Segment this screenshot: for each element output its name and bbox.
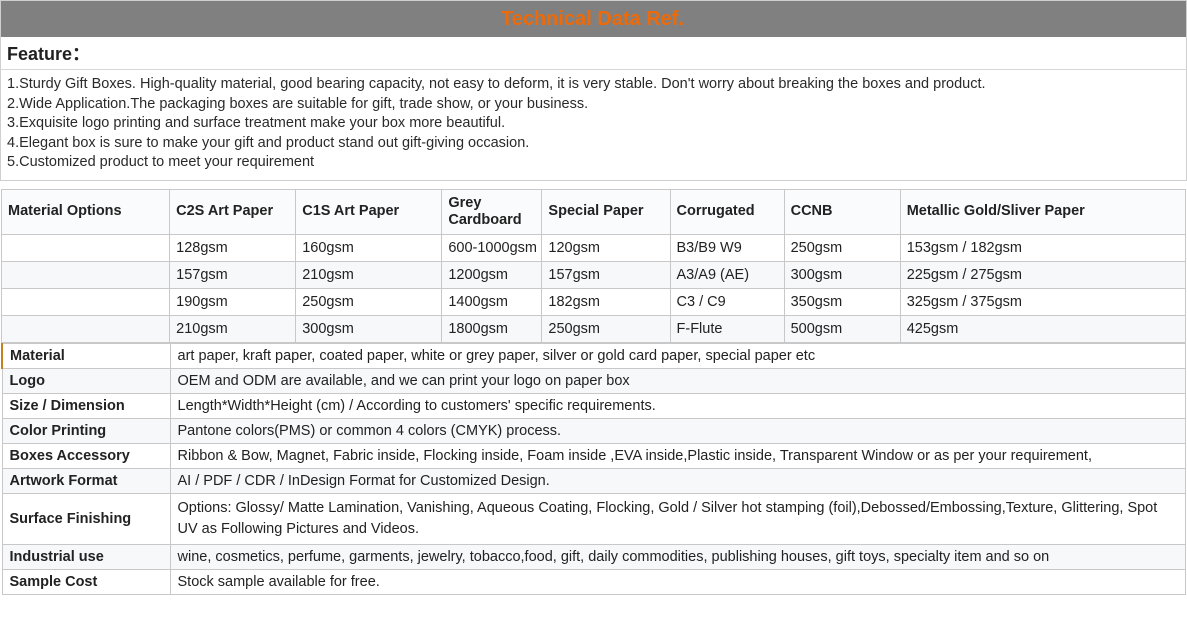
column-header-metallic-gold-sliver-paper: Metallic Gold/Sliver Paper [900, 189, 1185, 234]
specifications-table: Material art paper, kraft paper, coated … [1, 343, 1186, 595]
spec-label-boxes-accessory: Boxes Accessory [2, 443, 170, 468]
spec-label-material: Material [2, 343, 170, 368]
spec-row-boxes-accessory: Boxes Accessory Ribbon & Bow, Magnet, Fa… [2, 443, 1186, 468]
cell-corrugated: C3 / C9 [670, 288, 784, 315]
section-spacer [0, 181, 1187, 189]
cell-corrugated: A3/A9 (AE) [670, 261, 784, 288]
cell-grey-cardboard: 1200gsm [442, 261, 542, 288]
technical-data-page: Technical Data Ref. Feature： 1.Sturdy Gi… [0, 0, 1187, 620]
feature-item: 3.Exquisite logo printing and surface tr… [7, 114, 1180, 134]
cell-metallic: 153gsm / 182gsm [900, 234, 1185, 261]
feature-heading-row: Feature： [0, 37, 1187, 70]
spec-label-industrial-use: Industrial use [2, 544, 170, 569]
spec-label-color-printing: Color Printing [2, 418, 170, 443]
cell-material-options [2, 315, 170, 342]
feature-item: 1.Sturdy Gift Boxes. High-quality materi… [7, 75, 1180, 95]
table-row: 157gsm 210gsm 1200gsm 157gsm A3/A9 (AE) … [2, 261, 1186, 288]
cell-c2s: 128gsm [170, 234, 296, 261]
feature-heading: Feature： [7, 40, 90, 66]
spec-label-artwork-format: Artwork Format [2, 468, 170, 493]
spec-label-surface-finishing: Surface Finishing [2, 493, 170, 544]
cell-ccnb: 500gsm [784, 315, 900, 342]
spec-value-sample-cost: Stock sample available for free. [170, 569, 1186, 594]
spec-value-size-dimension: Length*Width*Height (cm) / According to … [170, 393, 1186, 418]
column-header-grey-cardboard: Grey Cardboard [442, 189, 542, 234]
cell-c1s: 250gsm [296, 288, 442, 315]
cell-metallic: 425gsm [900, 315, 1185, 342]
spec-label-size-dimension: Size / Dimension [2, 393, 170, 418]
cell-c1s: 210gsm [296, 261, 442, 288]
column-header-special-paper: Special Paper [542, 189, 670, 234]
cell-c2s: 157gsm [170, 261, 296, 288]
table-row: 128gsm 160gsm 600-1000gsm 120gsm B3/B9 W… [2, 234, 1186, 261]
cell-special-paper: 250gsm [542, 315, 670, 342]
column-header-c2s-art-paper: C2S Art Paper [170, 189, 296, 234]
cell-ccnb: 250gsm [784, 234, 900, 261]
spec-value-boxes-accessory: Ribbon & Bow, Magnet, Fabric inside, Flo… [170, 443, 1186, 468]
spec-row-color-printing: Color Printing Pantone colors(PMS) or co… [2, 418, 1186, 443]
feature-list: 1.Sturdy Gift Boxes. High-quality materi… [0, 70, 1187, 181]
spec-row-surface-finishing: Surface Finishing Options: Glossy/ Matte… [2, 493, 1186, 544]
material-options-table: Material Options C2S Art Paper C1S Art P… [1, 189, 1186, 343]
cell-special-paper: 157gsm [542, 261, 670, 288]
cell-special-paper: 120gsm [542, 234, 670, 261]
cell-c1s: 300gsm [296, 315, 442, 342]
column-header-material-options: Material Options [2, 189, 170, 234]
cell-metallic: 325gsm / 375gsm [900, 288, 1185, 315]
cell-corrugated: B3/B9 W9 [670, 234, 784, 261]
cell-material-options [2, 288, 170, 315]
column-header-ccnb: CCNB [784, 189, 900, 234]
cell-ccnb: 300gsm [784, 261, 900, 288]
cell-metallic: 225gsm / 275gsm [900, 261, 1185, 288]
spec-label-logo: Logo [2, 368, 170, 393]
cell-ccnb: 350gsm [784, 288, 900, 315]
spec-value-industrial-use: wine, cosmetics, perfume, garments, jewe… [170, 544, 1186, 569]
spec-row-sample-cost: Sample Cost Stock sample available for f… [2, 569, 1186, 594]
spec-value-surface-finishing: Options: Glossy/ Matte Lamination, Vanis… [170, 493, 1186, 544]
cell-c1s: 160gsm [296, 234, 442, 261]
table-header-row: Material Options C2S Art Paper C1S Art P… [2, 189, 1186, 234]
title-bar: Technical Data Ref. [0, 0, 1187, 37]
table-row: 190gsm 250gsm 1400gsm 182gsm C3 / C9 350… [2, 288, 1186, 315]
spec-value-logo: OEM and ODM are available, and we can pr… [170, 368, 1186, 393]
page-title: Technical Data Ref. [501, 9, 684, 29]
cell-material-options [2, 261, 170, 288]
cell-special-paper: 182gsm [542, 288, 670, 315]
column-header-c1s-art-paper: C1S Art Paper [296, 189, 442, 234]
spec-value-color-printing: Pantone colors(PMS) or common 4 colors (… [170, 418, 1186, 443]
cell-material-options [2, 234, 170, 261]
cell-grey-cardboard: 1400gsm [442, 288, 542, 315]
cell-grey-cardboard: 1800gsm [442, 315, 542, 342]
spec-row-logo: Logo OEM and ODM are available, and we c… [2, 368, 1186, 393]
spec-label-sample-cost: Sample Cost [2, 569, 170, 594]
spec-value-material: art paper, kraft paper, coated paper, wh… [170, 343, 1186, 368]
table-row: 210gsm 300gsm 1800gsm 250gsm F-Flute 500… [2, 315, 1186, 342]
spec-row-size-dimension: Size / Dimension Length*Width*Height (cm… [2, 393, 1186, 418]
feature-item: 2.Wide Application.The packaging boxes a… [7, 95, 1180, 115]
feature-item: 5.Customized product to meet your requir… [7, 153, 1180, 173]
cell-c2s: 190gsm [170, 288, 296, 315]
cell-corrugated: F-Flute [670, 315, 784, 342]
spec-value-artwork-format: AI / PDF / CDR / InDesign Format for Cus… [170, 468, 1186, 493]
spec-row-industrial-use: Industrial use wine, cosmetics, perfume,… [2, 544, 1186, 569]
spec-row-material: Material art paper, kraft paper, coated … [2, 343, 1186, 368]
column-header-corrugated: Corrugated [670, 189, 784, 234]
spec-row-artwork-format: Artwork Format AI / PDF / CDR / InDesign… [2, 468, 1186, 493]
cell-c2s: 210gsm [170, 315, 296, 342]
feature-item: 4.Elegant box is sure to make your gift … [7, 134, 1180, 154]
cell-grey-cardboard: 600-1000gsm [442, 234, 542, 261]
